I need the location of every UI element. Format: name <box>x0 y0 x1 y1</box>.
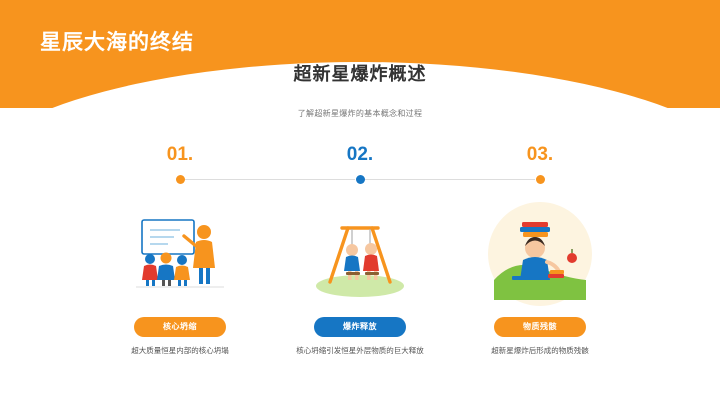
classroom-teaching-icon <box>128 202 232 306</box>
step-dot-2 <box>356 175 365 184</box>
step-item-1[interactable]: 01. <box>90 138 270 388</box>
slide-title: 超新星爆炸概述 <box>0 60 720 86</box>
step-number-1: 01. <box>90 144 270 166</box>
step-dot-3 <box>536 175 545 184</box>
step-number-2: 02. <box>270 144 450 166</box>
steps-container: 01. <box>90 138 630 388</box>
step-item-2[interactable]: 02. <box>270 138 450 388</box>
slide-subtitle: 了解超新星爆炸的基本概念和过程 <box>0 108 720 119</box>
page-title: 星辰大海的终结 <box>40 26 194 56</box>
step-pill-2[interactable]: 爆炸释放 <box>314 317 406 337</box>
step-description-1: 超大质量恒星内部的核心坍塌 <box>116 344 244 357</box>
children-swing-icon <box>308 202 412 306</box>
step-pill-1[interactable]: 核心坍缩 <box>134 317 226 337</box>
step-description-2: 核心坍缩引发恒星外层物质的巨大释放 <box>296 344 424 357</box>
step-description-3: 超新星爆炸后形成的物质残骸 <box>476 344 604 357</box>
step-item-3[interactable]: 03. <box>450 138 630 388</box>
step-dot-1 <box>176 175 185 184</box>
step-number-3: 03. <box>450 144 630 166</box>
step-pill-3[interactable]: 物质残骸 <box>494 317 586 337</box>
child-reading-books-icon <box>488 202 592 306</box>
